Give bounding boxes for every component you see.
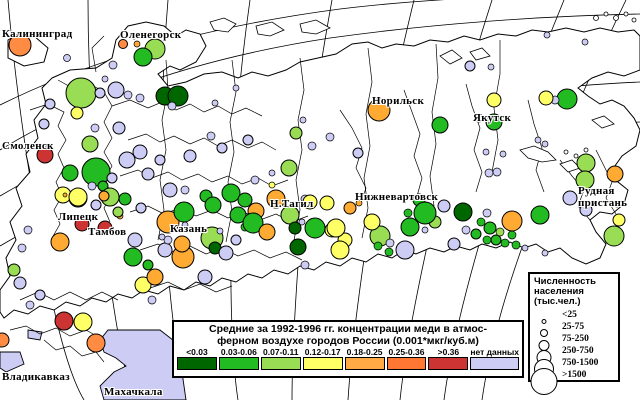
city-marker[interactable] (401, 218, 419, 236)
city-marker[interactable] (327, 219, 345, 237)
city-label: Смоленск (2, 140, 54, 152)
city-marker[interactable] (300, 117, 306, 123)
city-marker[interactable] (159, 234, 165, 240)
city-label: Норильск (372, 95, 424, 107)
city-marker[interactable] (462, 226, 470, 234)
city-marker[interactable] (39, 119, 49, 129)
population-size-label: 75-250 (562, 334, 589, 345)
city-marker[interactable] (531, 206, 549, 224)
city-label: Нижневартовск (355, 191, 438, 203)
population-size-label: <25 (562, 310, 577, 321)
city-label: Н.Тагил (270, 198, 313, 210)
city-marker[interactable] (212, 100, 218, 106)
city-marker[interactable] (133, 145, 147, 159)
legend-color-swatch (261, 357, 301, 370)
population-size-label: 750-1500 (562, 358, 598, 369)
city-marker[interactable] (582, 39, 588, 45)
city-marker[interactable] (233, 85, 239, 91)
legend-class[interactable]: 0.25-0.36 (387, 348, 427, 370)
city-marker[interactable] (557, 89, 577, 109)
city-marker[interactable] (577, 154, 595, 172)
city-label: Рудная (578, 185, 615, 197)
city-marker[interactable] (484, 222, 496, 234)
city-label: Якутск (473, 112, 511, 124)
city-marker[interactable] (374, 242, 382, 250)
city-marker[interactable] (299, 219, 305, 225)
city-marker[interactable] (71, 107, 83, 119)
city-marker[interactable] (181, 186, 189, 194)
population-size-label: >1500 (562, 370, 586, 381)
legend-class-label: <0.03 (177, 348, 217, 357)
city-marker[interactable] (198, 270, 212, 284)
city-marker[interactable] (231, 235, 241, 245)
legend-title-line-2: ферном воздухе городов России (0.001*мкг… (176, 336, 520, 348)
city-marker[interactable] (124, 248, 142, 266)
city-marker[interactable] (45, 99, 55, 109)
city-marker[interactable] (217, 143, 227, 153)
city-marker[interactable] (544, 32, 550, 38)
city-marker[interactable] (142, 168, 154, 180)
population-legend-title-line-3: (тыс.чел.) (534, 297, 614, 307)
city-marker[interactable] (542, 250, 548, 256)
legend-class[interactable]: 0.03-0.06 (219, 348, 259, 370)
city-marker[interactable] (113, 122, 125, 134)
city-marker[interactable] (66, 78, 96, 108)
city-marker[interactable] (91, 124, 99, 132)
city-marker[interactable] (477, 218, 485, 226)
city-marker[interactable] (512, 241, 520, 249)
city-marker[interactable] (344, 202, 356, 214)
city-marker[interactable] (184, 150, 196, 162)
city-marker[interactable] (488, 64, 494, 70)
city-marker[interactable] (320, 196, 334, 210)
city-marker[interactable] (143, 260, 153, 270)
city-marker[interactable] (454, 203, 472, 221)
city-label: Липецк (58, 211, 98, 223)
map-canvas: КалининградОленегорскСмоленскЛипецкТамбо… (0, 0, 640, 400)
concentration-legend: Средние за 1992-1996 гг. концентрации ме… (172, 320, 524, 378)
city-marker[interactable] (281, 160, 297, 176)
city-marker[interactable] (18, 244, 26, 252)
legend-class-label: нет данных (470, 348, 519, 357)
legend-class[interactable]: 0.12-0.17 (303, 348, 343, 370)
city-label: Махачкала (104, 386, 163, 398)
city-marker[interactable] (432, 117, 448, 133)
city-marker[interactable] (136, 203, 146, 213)
city-marker[interactable] (35, 290, 45, 300)
city-marker[interactable] (64, 55, 71, 62)
legend-class-label: 0.07-0.11 (261, 348, 301, 357)
city-marker[interactable] (448, 238, 460, 250)
city-marker[interactable] (102, 76, 108, 82)
city-marker[interactable] (522, 245, 528, 251)
legend-class[interactable]: 0.18-0.25 (345, 348, 385, 370)
city-marker[interactable] (205, 197, 221, 213)
city-label: пристань (578, 197, 627, 209)
city-marker[interactable] (496, 228, 504, 236)
city-marker[interactable] (155, 155, 165, 165)
city-marker[interactable] (88, 182, 96, 190)
city-marker[interactable] (158, 243, 172, 257)
city-marker[interactable] (364, 214, 380, 230)
city-marker[interactable] (501, 239, 509, 247)
city-marker[interactable] (134, 48, 152, 66)
city-marker[interactable] (74, 313, 92, 331)
city-marker[interactable] (119, 152, 135, 168)
city-marker[interactable] (82, 136, 98, 152)
city-marker[interactable] (148, 296, 156, 304)
population-size-label: 25-75 (562, 322, 584, 333)
city-marker[interactable] (404, 209, 412, 217)
city-marker[interactable] (174, 236, 190, 252)
city-marker[interactable] (69, 188, 87, 206)
city-marker[interactable] (99, 191, 109, 201)
city-marker[interactable] (539, 91, 553, 105)
legend-class-label: 0.25-0.36 (387, 348, 427, 357)
city-marker[interactable] (62, 165, 78, 181)
city-marker[interactable] (174, 202, 194, 222)
city-marker[interactable] (107, 173, 117, 183)
city-marker[interactable] (238, 193, 252, 207)
city-marker[interactable] (386, 239, 394, 247)
city-marker[interactable] (222, 184, 240, 202)
city-marker[interactable] (217, 228, 223, 234)
city-marker[interactable] (508, 231, 516, 239)
population-legend: Численность населения (тыс.чел.) <2525-7… (528, 272, 620, 382)
legend-title-line-1: Средние за 1992-1996 гг. концентрации ме… (176, 324, 520, 336)
city-marker[interactable] (8, 264, 20, 276)
population-legend-row: >1500 (534, 369, 614, 382)
legend-color-swatch (470, 357, 519, 370)
city-marker[interactable] (136, 94, 144, 102)
city-marker[interactable] (487, 93, 501, 107)
legend-class-label: >0.36 (428, 348, 468, 357)
city-marker[interactable] (493, 168, 501, 176)
city-marker[interactable] (535, 137, 541, 143)
city-marker[interactable] (108, 82, 124, 98)
city-marker[interactable] (87, 334, 105, 352)
city-marker[interactable] (24, 226, 32, 234)
city-marker[interactable] (269, 182, 275, 188)
city-marker[interactable] (326, 133, 334, 141)
city-marker[interactable] (465, 61, 475, 71)
legend-color-swatch (219, 357, 259, 370)
population-legend-rows: <2525-7575-250250-750750-1500>1500 (534, 309, 614, 387)
city-marker[interactable] (251, 176, 259, 184)
city-marker[interactable] (243, 135, 253, 145)
city-marker[interactable] (51, 233, 69, 251)
city-marker[interactable] (414, 202, 436, 224)
city-marker[interactable] (109, 61, 117, 69)
legend-class[interactable]: 0.07-0.11 (261, 348, 301, 370)
city-marker[interactable] (63, 193, 67, 197)
city-marker[interactable] (95, 88, 105, 98)
legend-class[interactable]: нет данных (470, 348, 519, 370)
city-marker[interactable] (91, 200, 101, 210)
city-marker[interactable] (331, 241, 349, 259)
city-label: Калининград (2, 28, 72, 40)
city-marker[interactable] (563, 191, 577, 205)
city-marker[interactable] (147, 269, 163, 285)
city-marker[interactable] (396, 241, 414, 259)
legend-class[interactable]: <0.03 (177, 348, 217, 370)
city-marker[interactable] (0, 333, 9, 347)
legend-color-swatch (303, 357, 343, 370)
city-marker[interactable] (500, 151, 506, 157)
city-marker[interactable] (483, 236, 491, 244)
city-marker[interactable] (438, 200, 450, 212)
city-marker[interactable] (290, 127, 302, 139)
city-label: Казань (170, 223, 207, 235)
legend-color-swatch (177, 357, 217, 370)
population-size-label: 250-750 (562, 346, 594, 357)
city-marker[interactable] (305, 218, 325, 238)
city-marker[interactable] (207, 132, 215, 140)
legend-class-label: 0.03-0.06 (219, 348, 259, 357)
city-marker[interactable] (483, 209, 491, 217)
city-label: Оленегорск (120, 29, 181, 41)
legend-color-swatch (387, 357, 427, 370)
city-marker[interactable] (14, 277, 26, 289)
city-marker[interactable] (134, 41, 140, 47)
city-marker[interactable] (308, 142, 316, 150)
city-marker[interactable] (502, 211, 522, 231)
city-marker[interactable] (55, 312, 73, 330)
city-marker[interactable] (26, 301, 34, 309)
city-marker[interactable] (353, 148, 363, 158)
city-label: Владикавказ (2, 371, 70, 383)
population-size-circle (531, 368, 558, 395)
city-marker[interactable] (604, 226, 624, 246)
legend-class-label: 0.12-0.17 (303, 348, 343, 357)
city-marker[interactable] (485, 169, 493, 177)
concentration-legend-title: Средние за 1992-1996 гг. концентрации ме… (174, 322, 522, 347)
city-marker[interactable] (128, 233, 142, 247)
city-marker[interactable] (124, 91, 132, 99)
city-marker[interactable] (163, 183, 177, 197)
city-marker[interactable] (385, 248, 393, 256)
city-marker[interactable] (113, 207, 123, 217)
city-marker[interactable] (483, 149, 489, 155)
city-marker[interactable] (471, 229, 481, 239)
concentration-swatches: <0.030.03-0.060.07-0.110.12-0.170.18-0.2… (174, 348, 522, 370)
city-marker[interactable] (613, 214, 625, 226)
legend-class[interactable]: >0.36 (428, 348, 468, 370)
city-marker[interactable] (168, 102, 176, 110)
city-label: Тамбов (88, 226, 126, 238)
legend-color-swatch (428, 357, 468, 370)
city-marker[interactable] (491, 235, 501, 245)
city-marker[interactable] (219, 246, 233, 260)
city-marker[interactable] (542, 141, 548, 147)
legend-class-label: 0.18-0.25 (345, 348, 385, 357)
city-marker[interactable] (119, 193, 131, 205)
city-marker[interactable] (290, 239, 306, 255)
legend-color-swatch (345, 357, 385, 370)
city-marker[interactable] (301, 261, 309, 269)
city-marker[interactable] (259, 224, 275, 240)
city-marker[interactable] (422, 227, 428, 233)
city-marker[interactable] (607, 166, 623, 182)
city-marker[interactable] (269, 170, 275, 176)
